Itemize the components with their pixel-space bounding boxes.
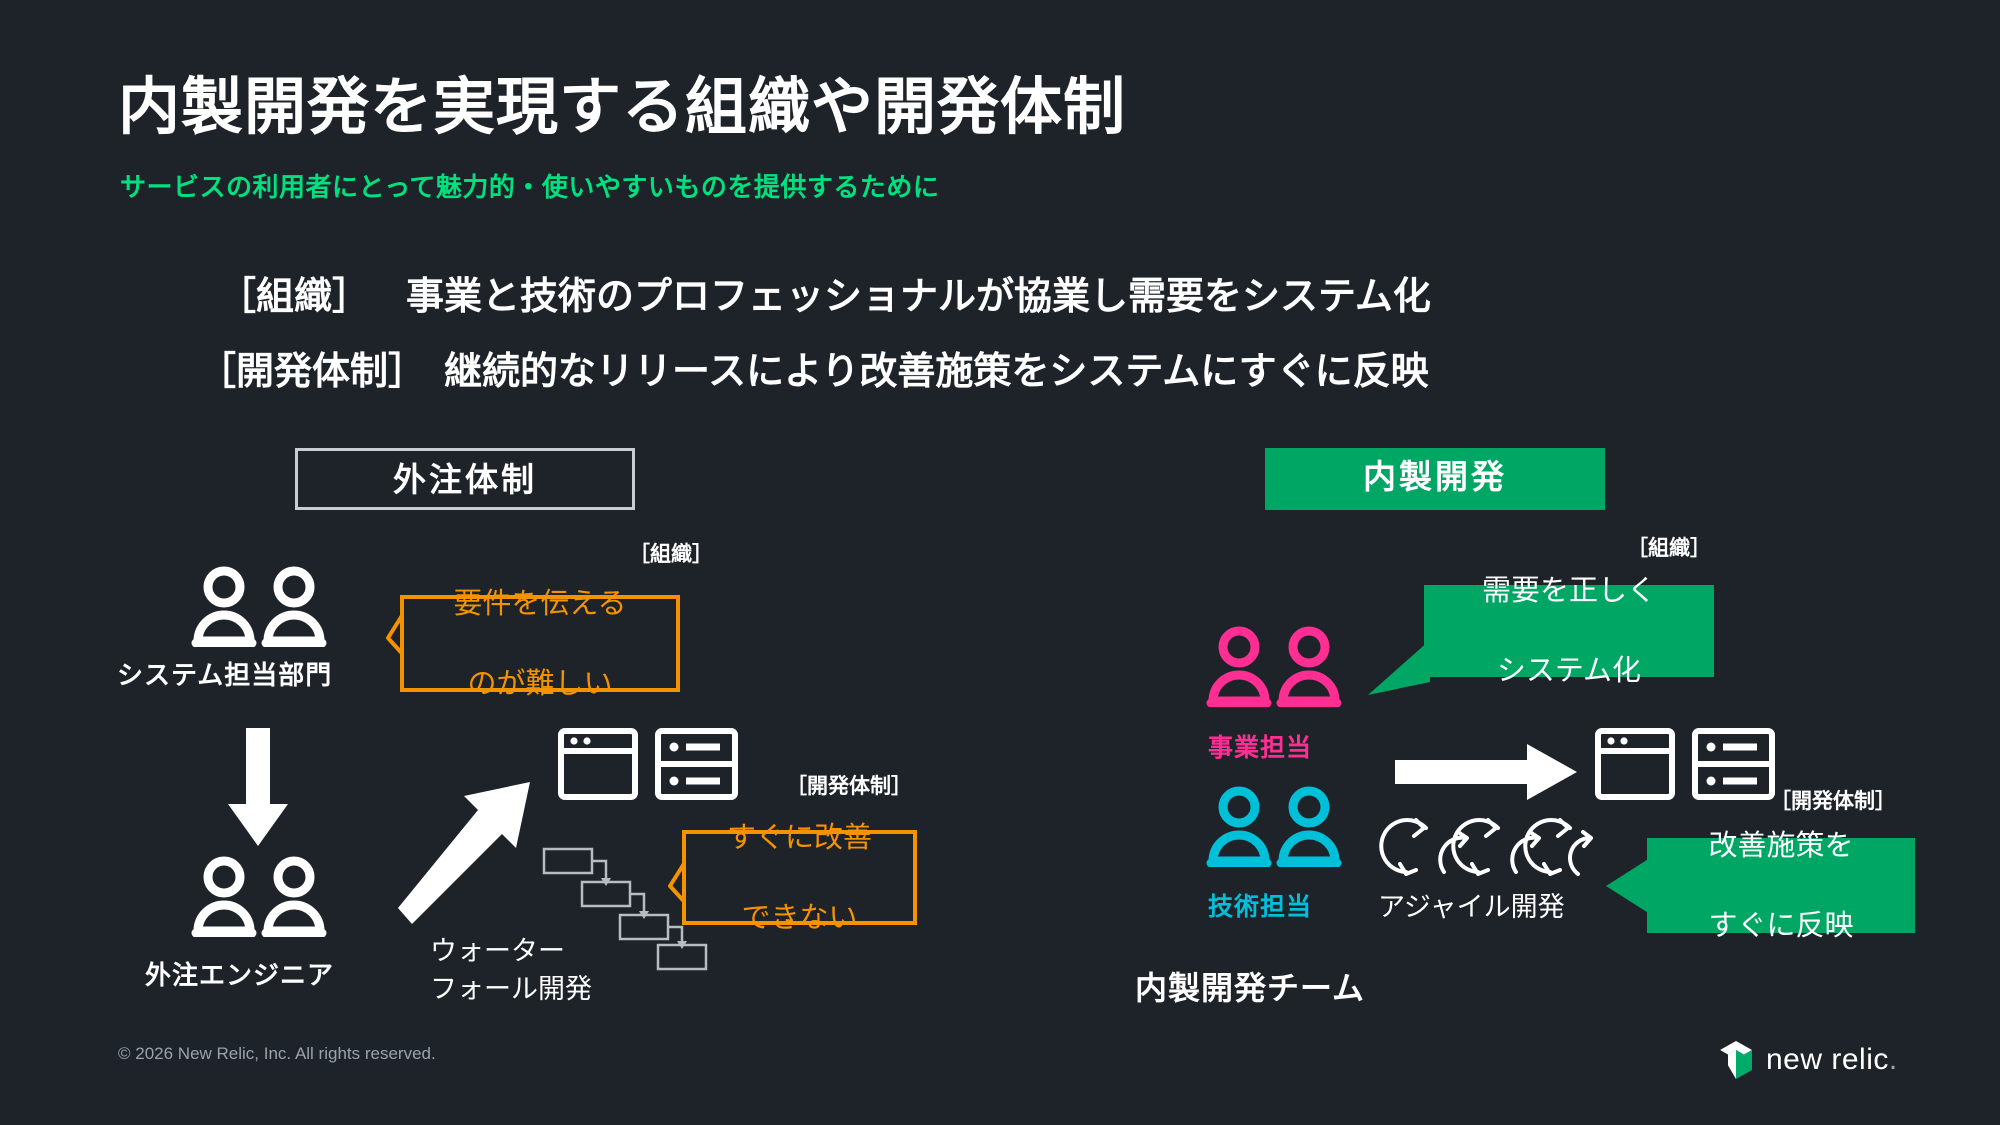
claim-organization-tag: ［組織］ [218,265,370,320]
callout-requirements-hard: 要件を伝える のが難しい [400,595,680,692]
caption-outsourced-engineers: 外注エンジニア [145,955,334,992]
down-arrow-icon [218,728,298,848]
system-icons-right [1595,728,1775,800]
label-left-organization: ［組織］ [629,538,713,568]
panel-heading-outsourcing: 外注体制 [295,448,635,510]
people-icon-system-dept [190,565,330,647]
claim-organization: ［組織］事業と技術のプロフェッショナルが協業し需要をシステム化 [218,265,1431,320]
claim-devsystem-text: 継続的なリリースにより改善施策をシステムにすぐに反映 [444,351,1429,393]
callout-requirements-hard-line2: のが難しい [453,664,626,704]
method-agile: アジャイル開発 [1378,888,1565,926]
callout-cannot-improve: すぐに改善 できない [682,830,917,925]
agile-loop-icon [1378,812,1598,890]
callout-tail-green-1 [1368,640,1430,700]
callout-reflect-improvements: 改善施策を すぐに反映 [1647,838,1915,933]
claim-devsystem: ［開発体制］継続的なリリースにより改善施策をシステムにすぐに反映 [198,340,1429,395]
label-left-devsystem: ［開発体制］ [786,770,912,800]
people-icon-tech [1205,785,1345,867]
method-waterfall-line1: ウォーター [430,932,592,970]
callout-systemize-demand-line1: 需要を正しく [1482,571,1656,611]
copyright-text: © 2026 New Relic, Inc. All rights reserv… [118,1044,436,1064]
page-subtitle: サービスの利用者にとって魅力的・使いやすいものを提供するために [120,167,939,204]
slide-root: 内製開発を実現する組織や開発体制 サービスの利用者にとって魅力的・使いやすいもの… [0,0,2000,1125]
new-relic-mark-icon [1718,1040,1754,1080]
people-icon-business [1205,625,1345,707]
caption-tech-role: 技術担当 [1208,887,1312,923]
diagonal-arrow-icon [390,778,540,928]
callout-requirements-hard-line1: 要件を伝える [453,584,626,624]
callout-tail-green-2 [1606,856,1650,918]
new-relic-logo: new relic. [1718,1040,1898,1080]
caption-business-role: 事業担当 [1208,728,1312,764]
method-waterfall-line2: フォール開発 [430,970,592,1008]
people-icon-outsourced-engineers [190,855,330,937]
right-arrow-icon [1395,742,1580,802]
callout-systemize-demand: 需要を正しく システム化 [1424,585,1714,677]
label-right-devsystem: ［開発体制］ [1770,785,1896,815]
callout-reflect-improvements-line1: 改善施策を [1708,826,1853,866]
panel-heading-inhouse: 内製開発 [1265,448,1605,510]
callout-systemize-demand-line2: システム化 [1482,651,1656,691]
page-title: 内製開発を実現する組織や開発体制 [118,56,1126,146]
claim-devsystem-tag: ［開発体制］ [198,340,426,395]
new-relic-wordmark: new relic. [1766,1043,1898,1077]
callout-cannot-improve-line2: できない [727,898,872,938]
system-icons-left [558,728,738,800]
callout-reflect-improvements-line2: すぐに反映 [1708,906,1853,946]
callout-cannot-improve-line1: すぐに改善 [727,818,872,858]
label-right-organization: ［組織］ [1627,532,1711,562]
claim-organization-text: 事業と技術のプロフェッショナルが協業し需要をシステム化 [406,276,1431,318]
caption-inhouse-team: 内製開発チーム [1135,963,1365,1009]
caption-system-dept: システム担当部門 [117,655,332,692]
method-waterfall: ウォーター フォール開発 [430,932,592,1008]
